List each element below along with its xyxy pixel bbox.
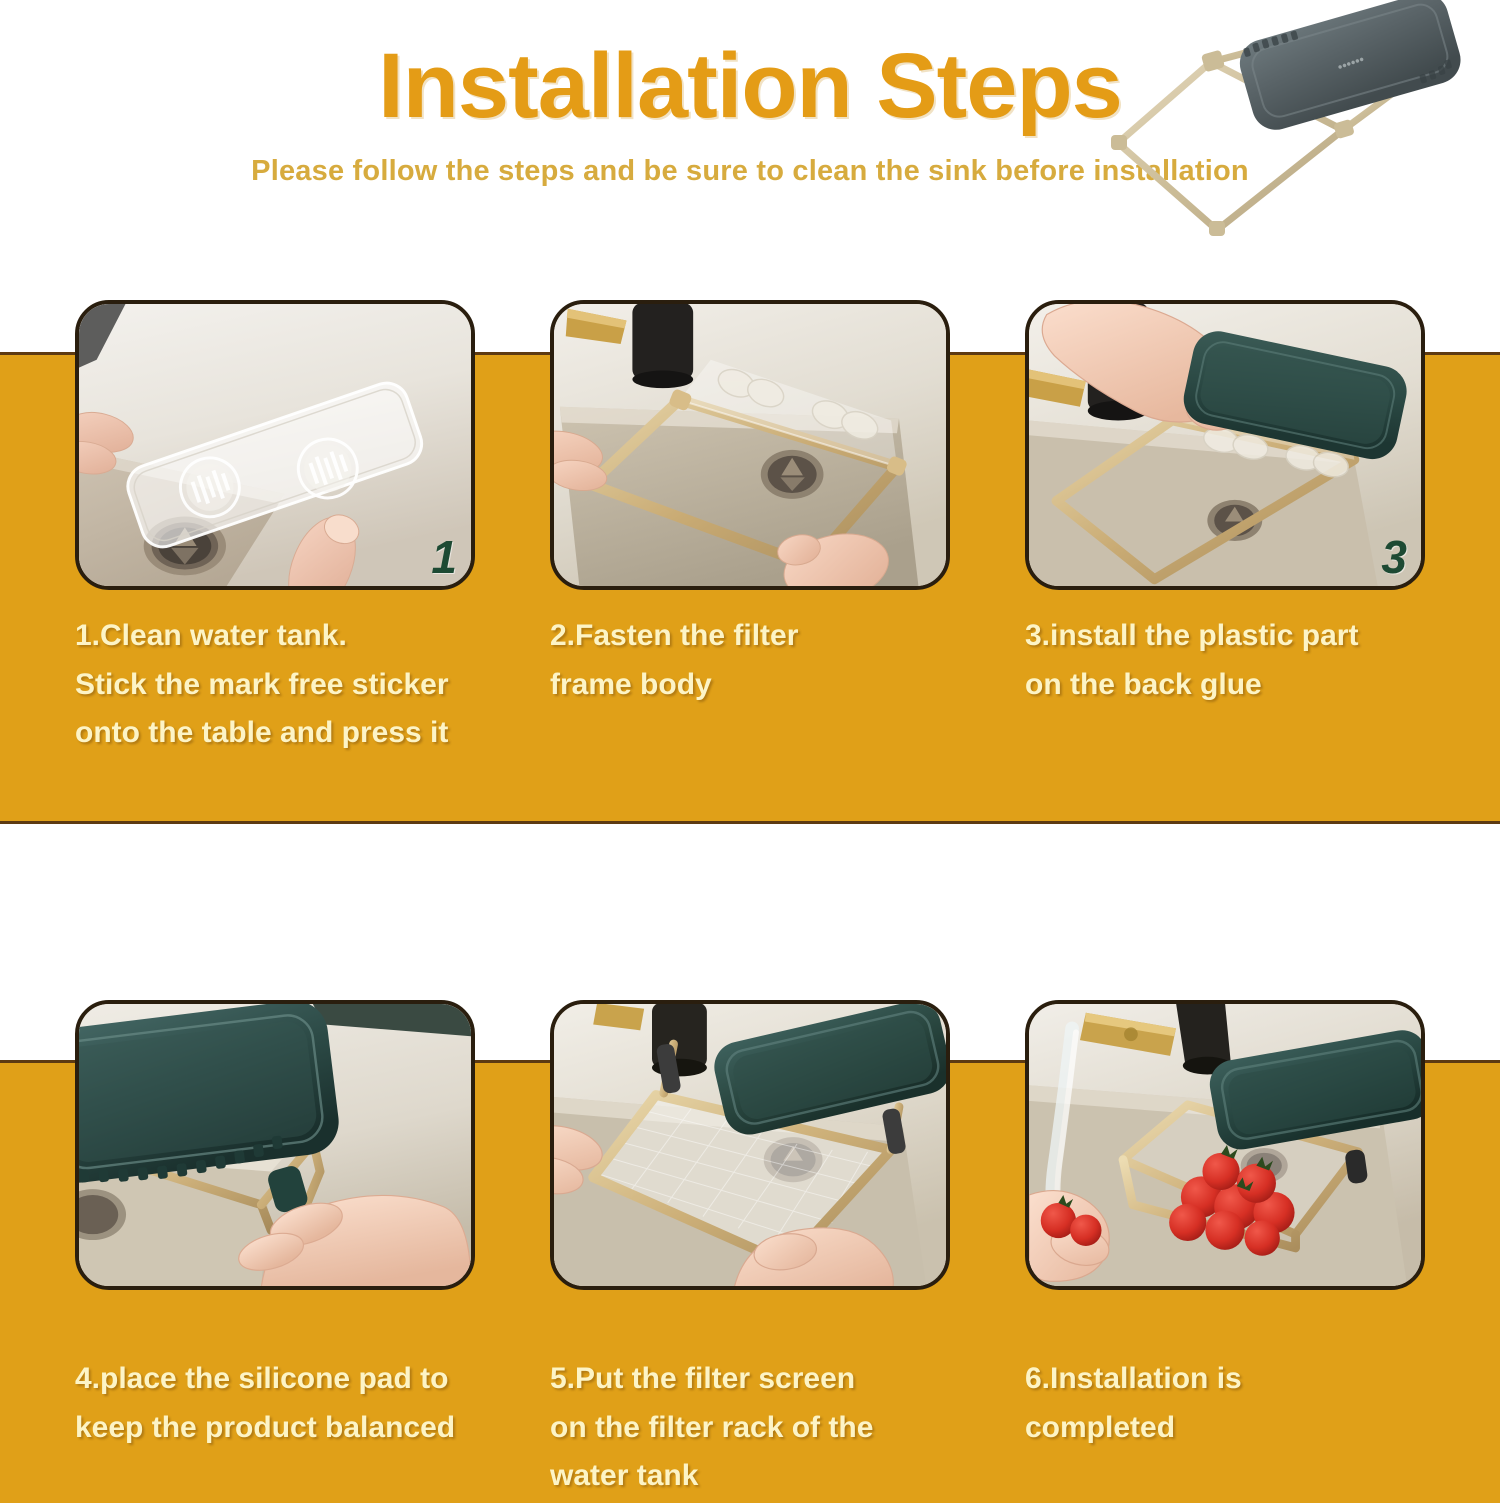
photo-row-bottom — [0, 1000, 1500, 1290]
step-caption-4: 4.place the silicone pad to keep the pro… — [75, 1355, 475, 1501]
photo-clean-water-tank: 1 — [75, 300, 475, 590]
step-5-line-3: water tank — [550, 1452, 950, 1501]
step-5-line-1: 5.Put the filter screen — [550, 1355, 950, 1404]
step-6-line-1: 6.Installation is — [1025, 1355, 1425, 1404]
step-1-line-2: Stick the mark free sticker — [75, 661, 475, 710]
step-6-line-2: completed — [1025, 1404, 1425, 1453]
step-caption-1: 1.Clean water tank. Stick the mark free … — [75, 612, 475, 758]
step-2-line-2: frame body — [550, 661, 950, 710]
photo-install-plastic-part: 3 — [1025, 300, 1425, 590]
photo-put-filter-screen — [550, 1000, 950, 1290]
step-3-line-1: 3.install the plastic part — [1025, 612, 1425, 661]
step-5-line-2: on the filter rack of the — [550, 1404, 950, 1453]
photo-place-silicone-pad — [75, 1000, 475, 1290]
caption-row-top: 1.Clean water tank. Stick the mark free … — [0, 612, 1500, 758]
step-1-line-3: onto the table and press it — [75, 709, 475, 758]
step-3-line-2: on the back glue — [1025, 661, 1425, 710]
step-caption-3: 3.install the plastic part on the back g… — [1025, 612, 1425, 758]
page-subtitle: Please follow the steps and be sure to c… — [0, 155, 1500, 188]
step-2-line-1: 2.Fasten the filter — [550, 612, 950, 661]
caption-row-bottom: 4.place the silicone pad to keep the pro… — [0, 1355, 1500, 1501]
step-caption-2: 2.Fasten the filter frame body — [550, 612, 950, 758]
photo-row-top: 1 — [0, 300, 1500, 590]
page-title: Installation Steps — [0, 34, 1500, 139]
photo-badge-1: 1 — [431, 530, 457, 584]
step-4-line-2: keep the product balanced — [75, 1404, 475, 1453]
photo-badge-3: 3 — [1381, 530, 1407, 584]
photo-fasten-filter-frame — [550, 300, 950, 590]
step-1-line-1: 1.Clean water tank. — [75, 612, 475, 661]
photo-installation-completed — [1025, 1000, 1425, 1290]
step-4-line-1: 4.place the silicone pad to — [75, 1355, 475, 1404]
step-caption-5: 5.Put the filter screen on the filter ra… — [550, 1355, 950, 1501]
header: Installation Steps Please follow the ste… — [0, 0, 1500, 300]
step-caption-6: 6.Installation is completed — [1025, 1355, 1425, 1501]
